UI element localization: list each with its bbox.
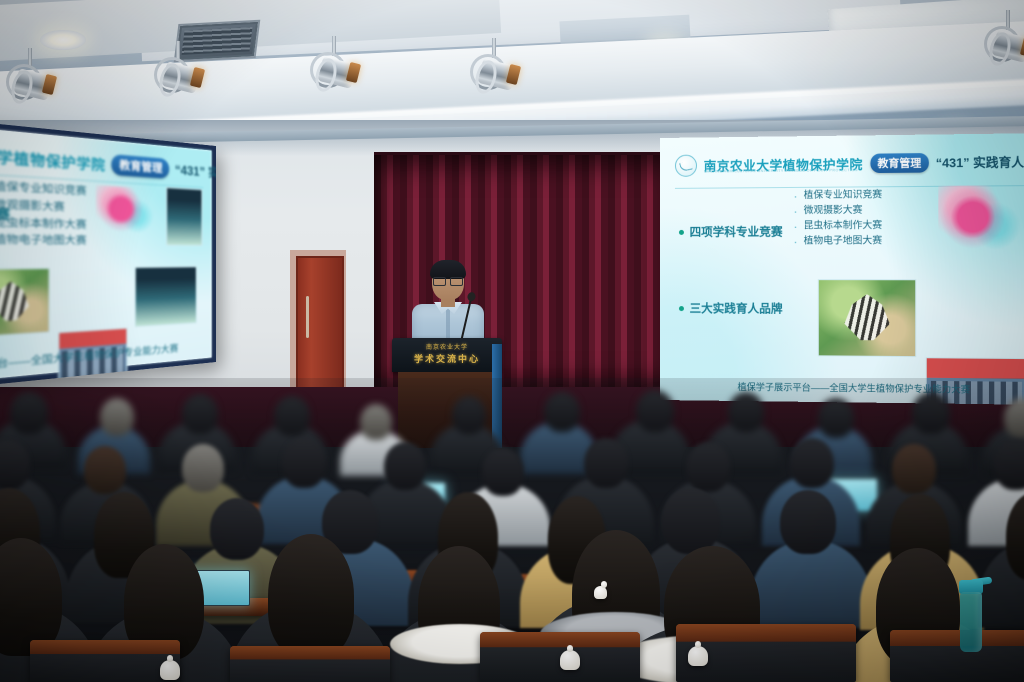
audience-head (636, 390, 674, 432)
bullet-dot-icon (679, 306, 684, 311)
slide-badge: 教育管理 (870, 153, 928, 173)
podium-line-2: 学术交流中心 (392, 352, 502, 365)
audience-hair-long (268, 534, 354, 658)
slide-section-2-label: 三大实践育人品牌 (690, 301, 783, 317)
slide-bullet-list: 植保专业知识竞赛 微观摄影大赛 昆虫标本制作大赛 植物电子地图大赛 (791, 189, 882, 249)
door-handle-icon (306, 296, 309, 338)
stage-spotlight (152, 55, 206, 101)
slide-section-label: 三大实践育人品牌 (679, 300, 783, 317)
screen-frame: 南京农业大学植物保护学院 教育管理 “431” 实践育人 四项学科专业竞赛 植保… (0, 107, 216, 400)
audience-head (282, 438, 326, 488)
tea-cup-icon (594, 586, 607, 599)
tea-cup-icon (160, 660, 180, 680)
water-bottle[interactable] (958, 578, 984, 652)
audience-head (912, 392, 950, 434)
slide-content-left: 南京农业大学植物保护学院 教育管理 “431” 实践育人 四项学科专业竞赛 植保… (0, 115, 211, 393)
projection-screen-left: 南京农业大学植物保护学院 教育管理 “431” 实践育人 四项学科专业竞赛 植保… (0, 107, 216, 400)
audience-head (780, 490, 836, 554)
stage-door[interactable] (296, 256, 344, 392)
stage-spotlight (982, 24, 1024, 70)
audience-head (100, 398, 134, 436)
stage-spotlight (4, 62, 58, 108)
audience-head (10, 392, 48, 434)
slide-thumbnail-poster (166, 187, 202, 245)
bullet-dot-icon (679, 230, 684, 235)
stage-spotlight (468, 52, 522, 98)
slide-title: “431” 实践育人 (175, 161, 216, 184)
audience-head (544, 392, 580, 432)
chair-back (890, 630, 1024, 682)
university-logo-icon (675, 154, 697, 176)
list-item: 昆虫标本制作大赛 (0, 214, 87, 234)
slide-title: “431” 实践育人 (936, 153, 1024, 171)
slide-content-right: 南京农业大学植物保护学院 NANJING AGRICULTURAL UNIVER… (660, 133, 1024, 405)
downlight-icon (40, 30, 86, 50)
slide-bullet-list: 植保专业知识竞赛 微观摄影大赛 昆虫标本制作大赛 植物电子地图大赛 (0, 178, 87, 250)
audience-head (182, 394, 218, 434)
audience-head (818, 398, 854, 438)
slide-thumbnail-doc (135, 267, 196, 327)
slide-thumbnail-butterfly (0, 268, 50, 337)
audience-head (210, 498, 264, 560)
podium-nameplate: 南京农业大学 学术交流中心 (392, 342, 502, 365)
audience-head (360, 404, 392, 440)
slide-thumbnail-pink: “青年与国” (938, 185, 1021, 256)
slide-badge: 教育管理 (112, 154, 170, 179)
list-item: 植物电子地图大赛 (791, 234, 882, 249)
slide-section-2: 三大实践育人品牌 (679, 300, 783, 317)
list-item: 昆虫标本制作大赛 (791, 219, 882, 234)
chair-back (230, 646, 390, 682)
audience-head (686, 442, 730, 492)
audience-head (584, 438, 628, 488)
audience-head (384, 442, 426, 490)
audience-head (728, 392, 764, 432)
list-item: 植物电子地图大赛 (0, 232, 87, 250)
slide-thumbnail-pink (96, 185, 154, 236)
slide-section-1: 四项学科专业竞赛 (679, 224, 783, 240)
audience-head (994, 440, 1024, 490)
chair-back (30, 640, 180, 682)
slide-org-name: 南京农业大学植物保护学院 (0, 137, 106, 175)
screen-frame: 南京农业大学植物保护学院 NANJING AGRICULTURAL UNIVER… (660, 133, 1024, 405)
audience-head (892, 444, 936, 494)
slide-header: 南京农业大学植物保护学院 NANJING AGRICULTURAL UNIVER… (675, 141, 1024, 185)
audience-head (84, 446, 126, 494)
lecture-hall-photo: 南京农业大学植物保护学院 教育管理 “431” 实践育人 四项学科专业竞赛 植保… (0, 0, 1024, 682)
audience-head (182, 444, 224, 492)
audience-area (0, 378, 1024, 682)
speaker-person (412, 262, 484, 348)
podium-line-1: 南京农业大学 (392, 342, 502, 351)
audience-head (274, 396, 310, 436)
bottle-body (960, 592, 982, 652)
projection-screen-right: 南京农业大学植物保护学院 NANJING AGRICULTURAL UNIVER… (660, 133, 1024, 405)
audience-head (452, 396, 486, 434)
list-item: 植保专业知识竞赛 (791, 189, 882, 205)
slide-section-1-label: 四项学科专业竞赛 (690, 224, 783, 240)
glasses-icon (433, 277, 463, 284)
stage-spotlight (308, 50, 362, 96)
slide-thumbnail-butterfly: 保护中华虎凤蝶项目 (818, 280, 916, 357)
audience-head (662, 488, 720, 554)
tea-cup-icon (688, 646, 708, 666)
slide-section-label: 四项学科专业竞赛 (679, 224, 783, 240)
tea-cup-icon (560, 650, 580, 670)
list-item: 微观摄影大赛 (791, 204, 882, 219)
audience-head (790, 438, 834, 488)
podium-top-panel: 南京农业大学 学术交流中心 (392, 338, 502, 372)
audience-head (482, 448, 524, 496)
